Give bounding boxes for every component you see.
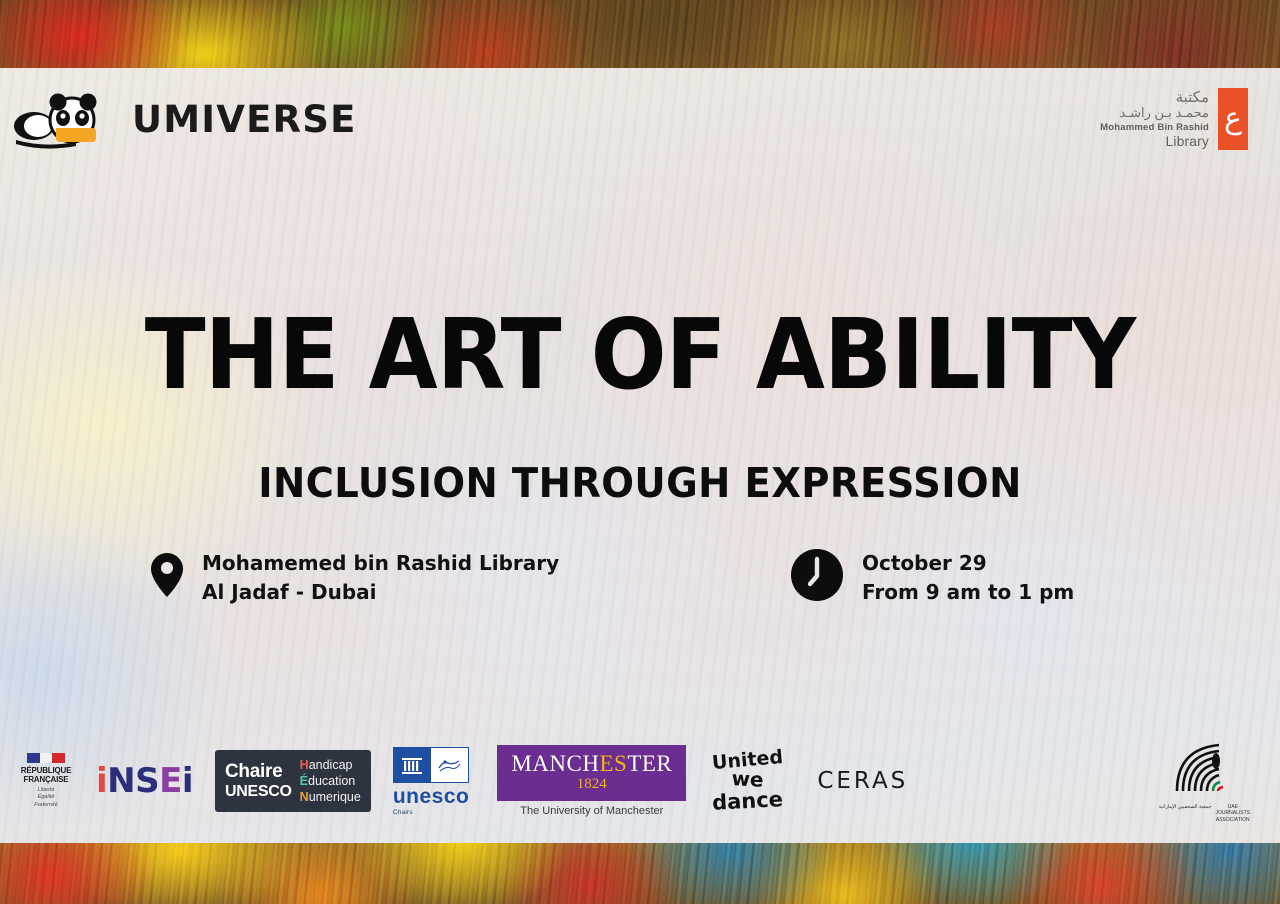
rf-motto3: Fraternité [21,802,71,809]
unesco-temple-icon [394,748,431,782]
sponsor-ceras: CERAS [817,768,908,794]
sponsor-university-of-manchester: MANCHESTER 1824 The University of Manche… [497,745,686,818]
uae-emblem-icon [1173,784,1235,801]
library-arabic-line2: محمـد بـن راشـد [1100,106,1209,121]
event-poster: UMIVERSE مكتبة محمـد بـن راشـد Mohammed … [0,0,1280,904]
chaire-word1-initial: H [300,758,309,772]
insei-part3: E [159,761,182,801]
insei-part2: NS [107,761,159,801]
rf-title-line2: FRANÇAISE [21,775,71,784]
page-subtitle: INCLUSION THROUGH EXPRESSION [38,459,1241,507]
uae-english2: JOURNALISTS [1216,810,1250,816]
sponsor-unesco: unesco Chairs [393,747,470,816]
page-title: THE ART OF ABILITY [51,306,1229,403]
sponsor-logos: RÉPUBLIQUE FRANÇAISE Liberté Égalité Fra… [0,731,1280,831]
clock-icon [790,548,844,607]
rf-title-line1: RÉPUBLIQUE [21,766,71,775]
location-line2: Al Jadaf - Dubai [202,578,559,607]
insei-part1: i [96,761,107,801]
chaire-line1: Chaire [225,762,292,783]
insei-part4: i [182,761,193,801]
sponsor-chaire-unesco: Chaire UNESCO Handicap Éducation Numeriq… [215,750,371,813]
brand-name: UMIVERSE [132,98,357,141]
chaire-word2-initial: É [300,774,308,788]
sponsor-uae-journalists-association: جمعية الصحفيين الإماراتية UAE JOURNALIST… [1159,739,1250,824]
library-english-line1: Mohammed Bin Rashid [1100,123,1209,134]
manchester-year: 1824 [511,776,672,793]
unesco-wordmark: unesco [393,785,470,809]
manchester-name-part2: ES [599,751,627,776]
manchester-name-part3: TER [627,751,672,776]
sponsor-insei: iNSEi [96,761,193,801]
event-datetime: October 29 From 9 am to 1 pm [790,548,1074,607]
panda-logo-icon [14,86,118,152]
sponsor-republique-francaise: RÉPUBLIQUE FRANÇAISE Liberté Égalité Fra… [14,753,78,810]
manchester-name-part1: MANCH [511,751,599,776]
location-line1: Mohamemed bin Rashid Library [202,549,559,578]
hero-section: THE ART OF ABILITY INCLUSION THROUGH EXP… [0,306,1280,507]
chaire-line2: UNESCO [225,783,292,800]
rf-motto2: Égalité [21,794,71,801]
uae-arabic: جمعية الصحفيين الإماراتية [1159,804,1212,824]
uae-english1: UAE [1228,804,1238,810]
uae-english3: ASSOCIATION [1216,817,1250,823]
unesco-emblem-icon [431,748,468,782]
library-arabic-line1: مكتبة [1100,89,1209,106]
event-info-row: Mohamemed bin Rashid Library Al Jadaf - … [0,548,1280,607]
datetime-line1: October 29 [862,549,1074,578]
sponsor-united-we-dance: United we dance [712,751,783,812]
event-location: Mohamemed bin Rashid Library Al Jadaf - … [150,548,790,607]
chaire-word3-rest: umerique [309,790,361,804]
map-pin-icon [150,552,184,603]
uwd-line3: dance [712,789,784,813]
poster-panel: UMIVERSE مكتبة محمـد بـن راشـد Mohammed … [0,68,1280,843]
manchester-caption: The University of Manchester [497,805,686,817]
brand-header: UMIVERSE [14,86,357,152]
chaire-word3-initial: N [300,790,309,804]
library-english-line2: Library [1100,134,1209,150]
datetime-line2: From 9 am to 1 pm [862,578,1074,607]
chaire-word1-rest: andicap [309,758,353,772]
french-flag-icon [27,753,65,763]
library-mark-icon: ع [1218,88,1248,150]
chaire-word2-rest: ducation [308,774,355,788]
unesco-subtitle: Chairs [393,809,470,816]
library-logo: مكتبة محمـد بـن راشـد Mohammed Bin Rashi… [1100,88,1248,150]
